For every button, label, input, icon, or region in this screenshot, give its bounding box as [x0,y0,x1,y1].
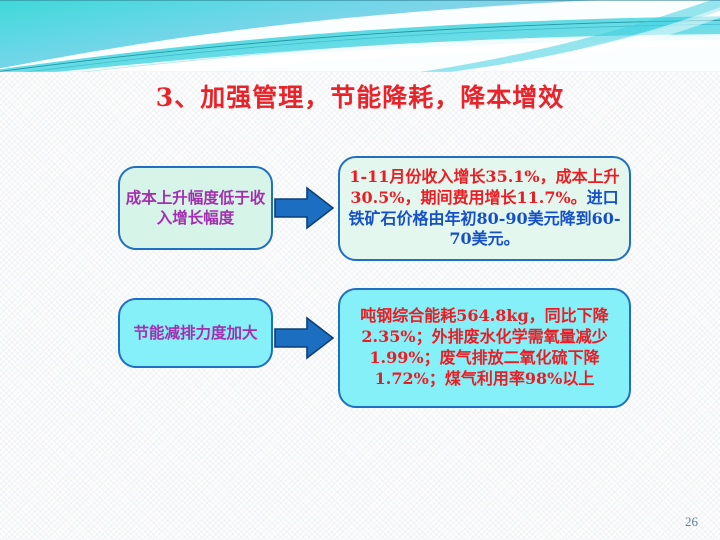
right-arrow-icon [274,186,334,230]
banner-swoosh-graphic [0,0,720,72]
cause-box-cost-growth-label: 成本上升幅度低于收入增长幅度 [120,188,271,228]
cause-box-energy-saving: 节能减排力度加大 [118,298,273,368]
slide-title: 3、加强管理，节能降耗，降本增效 [0,78,720,114]
result-segment-red: 1-11月份收入增长35.1%，成本上升30.5%，期间费用增长11.7%。 [349,167,619,207]
right-arrow-icon [274,316,334,360]
right-arrow-icon-2 [274,316,334,365]
result-box-cost-detail: 1-11月份收入增长35.1%，成本上升30.5%，期间费用增长11.7%。进口… [338,156,631,261]
slide-canvas: 3、加强管理，节能降耗，降本增效 成本上升幅度低于收入增长幅度 1-11月份收入… [0,0,720,540]
cause-box-energy-saving-label: 节能减排力度加大 [133,323,257,343]
result-box-cost-detail-text: 1-11月份收入增长35.1%，成本上升30.5%，期间费用增长11.7%。进口… [348,167,621,250]
result-box-energy-detail-text: 吨钢综合能耗564.8kg，同比下降2.35%；外排废水化学需氧量减少1.99%… [348,306,621,389]
decorative-banner [0,0,720,72]
page-number: 26 [685,514,698,530]
cause-box-cost-growth: 成本上升幅度低于收入增长幅度 [118,166,273,250]
result-box-energy-detail: 吨钢综合能耗564.8kg，同比下降2.35%；外排废水化学需氧量减少1.99%… [338,288,631,408]
right-arrow-icon-1 [274,186,334,235]
